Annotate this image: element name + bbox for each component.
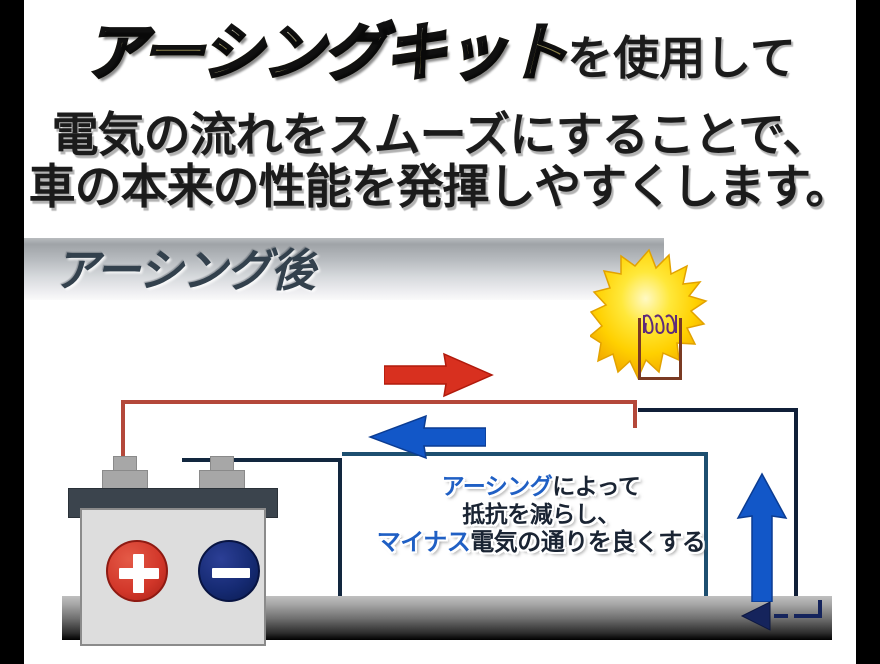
caption-line-1-rest: によって <box>552 473 640 499</box>
wire-negative-terminal-lead <box>182 458 342 462</box>
negative-terminal-badge <box>198 540 260 602</box>
headline-block: アーシングキットを使用して 電気の流れをスムーズにすることで、 車の本来の性能を… <box>24 0 856 228</box>
caption-line-3-rest: 電気の通りを良くする <box>470 529 705 556</box>
slide-root: アーシングキットを使用して 電気の流れをスムーズにすることで、 車の本来の性能を… <box>0 0 880 664</box>
caption-line-1-highlight: アーシング <box>442 473 553 499</box>
arrow-ground-path-icon <box>740 600 830 632</box>
wire-positive-vertical <box>121 402 125 464</box>
section-title: アーシング後 <box>54 242 314 300</box>
arrow-current-out-icon <box>384 352 494 398</box>
diagram-caption: アーシングによって 抵抗を減らし、 マイナス電気の通りを良くする <box>376 472 706 557</box>
circuit-diagram: アーシングによって 抵抗を減らし、 マイナス電気の通りを良くする <box>24 300 856 664</box>
arrow-current-return-icon <box>368 414 486 460</box>
headline-suffix-text: を使用して <box>567 22 796 94</box>
wire-positive-horizontal <box>121 400 637 404</box>
headline-line-1: アーシングキットを使用して <box>24 18 856 90</box>
headline-line-3: 車の本来の性能を発揮しやすくします。 <box>24 148 856 217</box>
arrow-ground-up-icon <box>736 472 788 602</box>
minus-icon <box>212 568 250 578</box>
wire-negative-inner-vertical <box>338 458 342 616</box>
caption-line-3-highlight: マイナス <box>377 529 471 556</box>
plus-icon-vertical <box>133 554 144 593</box>
headline-gold-text: アーシングキット <box>84 18 567 90</box>
caption-line-2: 抵抗を減らし、 <box>376 500 706 528</box>
wire-negative-outer-vertical <box>794 408 798 620</box>
positive-terminal-badge <box>106 540 168 602</box>
lamp-assembly <box>590 248 710 438</box>
letterbox-bar-left <box>0 0 24 664</box>
filament-coil-icon <box>641 314 679 334</box>
letterbox-bar-right <box>856 0 880 664</box>
caption-line-3: マイナス電気の通りを良くする <box>376 528 706 557</box>
caption-line-1: アーシングによって <box>376 472 706 500</box>
